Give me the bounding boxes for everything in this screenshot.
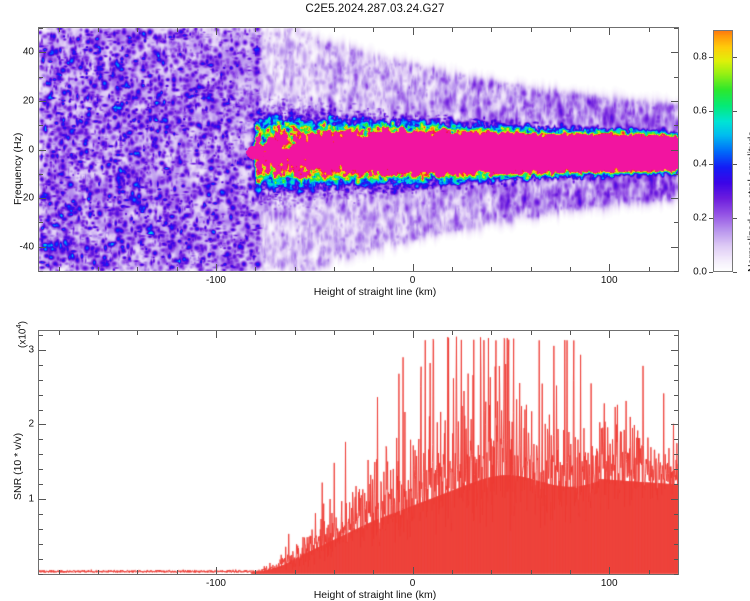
snr-y-tick (671, 499, 678, 500)
snr-x-tick (649, 570, 650, 574)
spectrogram-y-tick (671, 247, 678, 248)
spectrogram-x-tick (59, 28, 60, 32)
spectrogram-x-tick-label: 100 (601, 275, 618, 286)
spectrogram-x-tick (531, 267, 532, 271)
spectrogram-x-tick (531, 28, 532, 32)
spectrogram-x-tick (649, 267, 650, 271)
spectrogram-x-tick (452, 267, 453, 271)
snr-x-tick (413, 331, 414, 338)
spectrogram-y-tick-label: 40 (3, 47, 34, 58)
colorbar-tick (733, 164, 737, 165)
snr-y-tick (39, 380, 43, 381)
snr-y-tick (674, 574, 678, 575)
snr-x-tick (531, 570, 532, 574)
spectrogram-x-tick (334, 267, 335, 271)
snr-y-tick (39, 574, 43, 575)
snr-y-tick (39, 439, 43, 440)
snr-x-tick (491, 570, 492, 574)
spectrogram-x-tick (255, 267, 256, 271)
colorbar-tick (733, 111, 737, 112)
snr-x-tick (452, 570, 453, 574)
colorbar-tick-label: 0.2 (673, 213, 707, 224)
snr-x-tick (137, 331, 138, 335)
snr-y-tick (39, 469, 43, 470)
snr-y-tick (674, 365, 678, 366)
spectrogram-x-tick (255, 28, 256, 32)
snr-y-axis-title: SNR (10 * v/v) (12, 433, 24, 500)
spectrogram-y-tick (39, 28, 43, 29)
snr-y-tick (39, 484, 43, 485)
spectrogram-x-tick (98, 28, 99, 32)
spectrogram-y-tick-label: 20 (3, 95, 34, 106)
snr-y-tick (39, 350, 46, 351)
snr-x-axis-title: Height of straight line (km) (0, 589, 750, 601)
snr-x-tick (531, 331, 532, 335)
spectrogram-x-tick (413, 28, 414, 35)
colorbar-tick (709, 272, 713, 273)
snr-y-tick (674, 335, 678, 336)
snr-x-tick (373, 331, 374, 335)
snr-y-tick-label: 2 (3, 419, 34, 430)
snr-x-tick (137, 570, 138, 574)
snr-y-tick (671, 350, 678, 351)
snr-x-tick-label: 100 (601, 578, 618, 589)
snr-y-tick (39, 335, 43, 336)
snr-panel (38, 330, 679, 575)
snr-y-tick (39, 454, 43, 455)
spectrogram-y-tick (39, 52, 46, 53)
spectrogram-x-tick (137, 267, 138, 271)
snr-x-tick (59, 570, 60, 574)
snr-x-tick (334, 570, 335, 574)
snr-exponent-text: (x10 (17, 329, 28, 348)
snr-y-tick (674, 529, 678, 530)
snr-canvas (39, 331, 678, 574)
colorbar-gradient (714, 31, 732, 271)
spectrogram-y-axis-title: Frequency (Hz) (12, 133, 24, 205)
snr-x-tick-label: 0 (410, 578, 416, 589)
snr-y-tick (674, 559, 678, 560)
colorbar-tick (733, 57, 737, 58)
snr-x-tick (216, 331, 217, 338)
spectrogram-x-tick (216, 264, 217, 271)
snr-x-tick (570, 570, 571, 574)
snr-x-tick (609, 567, 610, 574)
spectrogram-x-tick (373, 267, 374, 271)
spectrogram-canvas (39, 28, 678, 271)
spectrogram-y-tick (671, 150, 678, 151)
snr-y-tick (39, 559, 43, 560)
snr-x-tick (609, 331, 610, 338)
snr-y-exponent-label: (x104) (14, 321, 28, 348)
snr-y-tick (674, 544, 678, 545)
snr-y-tick (674, 484, 678, 485)
spectrogram-y-tick-label: -40 (3, 241, 34, 252)
snr-x-tick-label: -100 (206, 578, 226, 589)
colorbar-tick (709, 57, 713, 58)
snr-x-tick (98, 331, 99, 335)
spectrogram-y-tick (39, 101, 46, 102)
spectrogram-y-tick (674, 125, 678, 126)
snr-x-tick (413, 567, 414, 574)
spectrogram-x-tick (491, 267, 492, 271)
snr-y-tick (39, 410, 43, 411)
spectrogram-x-tick-label: -100 (206, 275, 226, 286)
spectrogram-x-tick (59, 267, 60, 271)
snr-y-tick (39, 365, 43, 366)
snr-x-tick (177, 331, 178, 335)
snr-y-tick (671, 424, 678, 425)
snr-x-tick (570, 331, 571, 335)
spectrogram-x-tick (137, 28, 138, 32)
spectrogram-x-tick (649, 28, 650, 32)
spectrogram-x-tick (570, 28, 571, 32)
spectrogram-y-tick (671, 101, 678, 102)
snr-x-tick (59, 331, 60, 335)
spectrogram-y-tick (39, 271, 43, 272)
spectrogram-x-tick (177, 28, 178, 32)
colorbar-tick (733, 272, 737, 273)
snr-y-tick (674, 410, 678, 411)
colorbar-tick-label: 0.0 (673, 267, 707, 278)
spectrogram-x-tick (609, 264, 610, 271)
spectrogram-x-tick (413, 264, 414, 271)
snr-y-tick (39, 514, 43, 515)
colorbar (713, 30, 733, 272)
colorbar-tick-label: 0.4 (673, 159, 707, 170)
snr-y-tick (674, 514, 678, 515)
colorbar-tick (709, 218, 713, 219)
spectrogram-panel (38, 27, 679, 272)
spectrogram-x-tick (452, 28, 453, 32)
snr-x-tick (334, 331, 335, 335)
spectrogram-x-axis-title: Height of straight line (km) (0, 286, 750, 298)
spectrogram-y-tick (39, 174, 43, 175)
spectrogram-y-tick (39, 125, 43, 126)
spectrogram-y-tick (39, 222, 43, 223)
spectrogram-y-tick (39, 150, 46, 151)
snr-y-tick (39, 499, 46, 500)
colorbar-tick-label: 0.6 (673, 105, 707, 116)
spectrogram-x-tick (295, 267, 296, 271)
snr-y-tick (674, 380, 678, 381)
spectrogram-y-tick (39, 77, 43, 78)
colorbar-title: Normalized spectral amplitude (746, 131, 750, 272)
snr-y-tick (39, 544, 43, 545)
spectrogram-y-tick (671, 198, 678, 199)
spectrogram-y-tick (674, 174, 678, 175)
spectrogram-x-tick (491, 28, 492, 32)
spectrogram-y-tick (39, 247, 46, 248)
spectrogram-x-tick (98, 267, 99, 271)
snr-y-tick (39, 529, 43, 530)
colorbar-tick (709, 164, 713, 165)
colorbar-tick-label: 0.8 (673, 51, 707, 62)
spectrogram-x-tick-label: 0 (410, 275, 416, 286)
snr-x-tick (452, 331, 453, 335)
snr-y-tick (39, 424, 46, 425)
snr-x-tick (255, 331, 256, 335)
snr-x-tick (177, 570, 178, 574)
snr-x-tick (491, 331, 492, 335)
colorbar-tick (733, 218, 737, 219)
spectrogram-y-tick (674, 28, 678, 29)
snr-x-tick (295, 570, 296, 574)
spectrogram-y-tick (674, 77, 678, 78)
figure-root: C2E5.2024.287.03.24.G27 -1000100-40-2002… (0, 0, 750, 600)
snr-x-tick (216, 567, 217, 574)
spectrogram-x-tick (216, 28, 217, 35)
colorbar-tick (709, 111, 713, 112)
spectrogram-x-tick (295, 28, 296, 32)
spectrogram-x-tick (570, 267, 571, 271)
spectrogram-y-tick (39, 198, 46, 199)
snr-x-tick (649, 331, 650, 335)
snr-y-tick (674, 469, 678, 470)
snr-y-tick (674, 439, 678, 440)
snr-x-tick (373, 570, 374, 574)
snr-x-tick (295, 331, 296, 335)
spectrogram-x-tick (177, 267, 178, 271)
spectrogram-x-tick (373, 28, 374, 32)
spectrogram-x-tick (334, 28, 335, 32)
snr-y-tick (674, 395, 678, 396)
snr-y-tick (39, 395, 43, 396)
snr-exponent-power: 4 (14, 324, 23, 328)
snr-exponent-close: ) (17, 321, 28, 324)
figure-title: C2E5.2024.287.03.24.G27 (0, 3, 750, 15)
snr-x-tick (98, 570, 99, 574)
snr-x-tick (255, 570, 256, 574)
snr-y-tick (674, 454, 678, 455)
spectrogram-x-tick (609, 28, 610, 35)
